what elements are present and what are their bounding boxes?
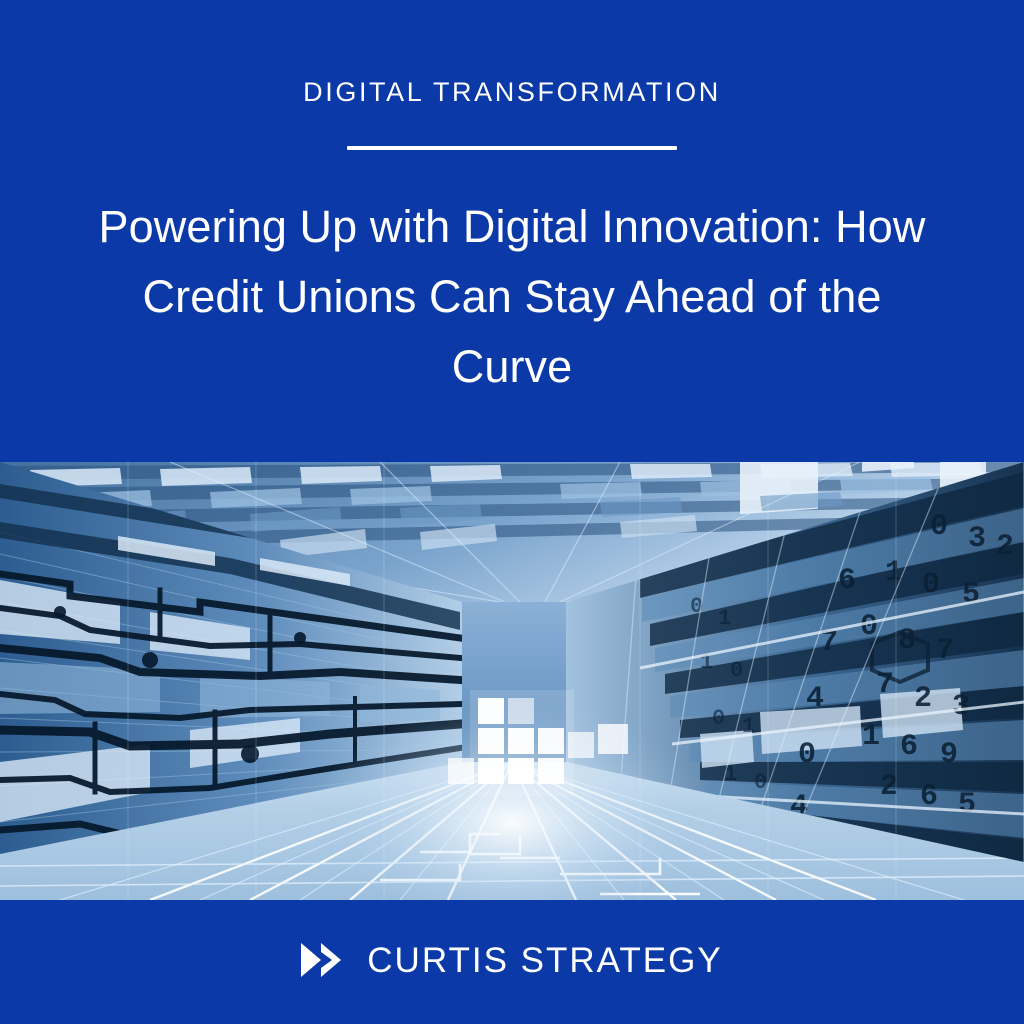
brand-logo-text: CURTIS STRATEGY: [367, 943, 722, 978]
svg-text:4: 4: [806, 682, 824, 716]
page-title: Powering Up with Digital Innovation: How…: [82, 192, 942, 402]
svg-text:9: 9: [940, 738, 958, 772]
header-block: DIGITAL TRANSFORMATION Powering Up with …: [0, 0, 1024, 462]
vanishing-point-glow-grid: [262, 612, 762, 900]
svg-text:2: 2: [996, 530, 1014, 564]
svg-text:1: 1: [862, 720, 880, 754]
eyebrow-category-label: DIGITAL TRANSFORMATION: [303, 78, 721, 108]
svg-text:1: 1: [885, 556, 903, 590]
brand-logo[interactable]: CURTIS STRATEGY: [301, 941, 722, 979]
digital-corridor-image: 032 105 087 723 169 265 67 40 4 01 10 01: [0, 462, 1024, 900]
divider-rule: [347, 146, 677, 150]
svg-text:8: 8: [898, 624, 916, 658]
social-post-card: DIGITAL TRANSFORMATION Powering Up with …: [0, 0, 1024, 1024]
svg-text:6: 6: [900, 730, 918, 764]
svg-text:3: 3: [968, 522, 986, 556]
footer-block: CURTIS STRATEGY: [0, 900, 1024, 1024]
hero-image-band: 032 105 087 723 169 265 67 40 4 01 10 01: [0, 462, 1024, 900]
svg-text:0: 0: [730, 658, 743, 683]
svg-text:0: 0: [798, 738, 816, 772]
svg-text:3: 3: [952, 690, 970, 724]
svg-text:7: 7: [936, 634, 954, 668]
svg-text:0: 0: [922, 568, 940, 602]
svg-text:2: 2: [914, 682, 932, 716]
svg-text:7: 7: [876, 668, 894, 702]
svg-text:1: 1: [718, 606, 731, 631]
curtis-chevron-logo-icon: [301, 941, 347, 979]
svg-text:2: 2: [880, 770, 898, 804]
svg-text:0: 0: [930, 510, 948, 544]
svg-text:5: 5: [962, 578, 980, 612]
svg-text:5: 5: [958, 788, 976, 822]
